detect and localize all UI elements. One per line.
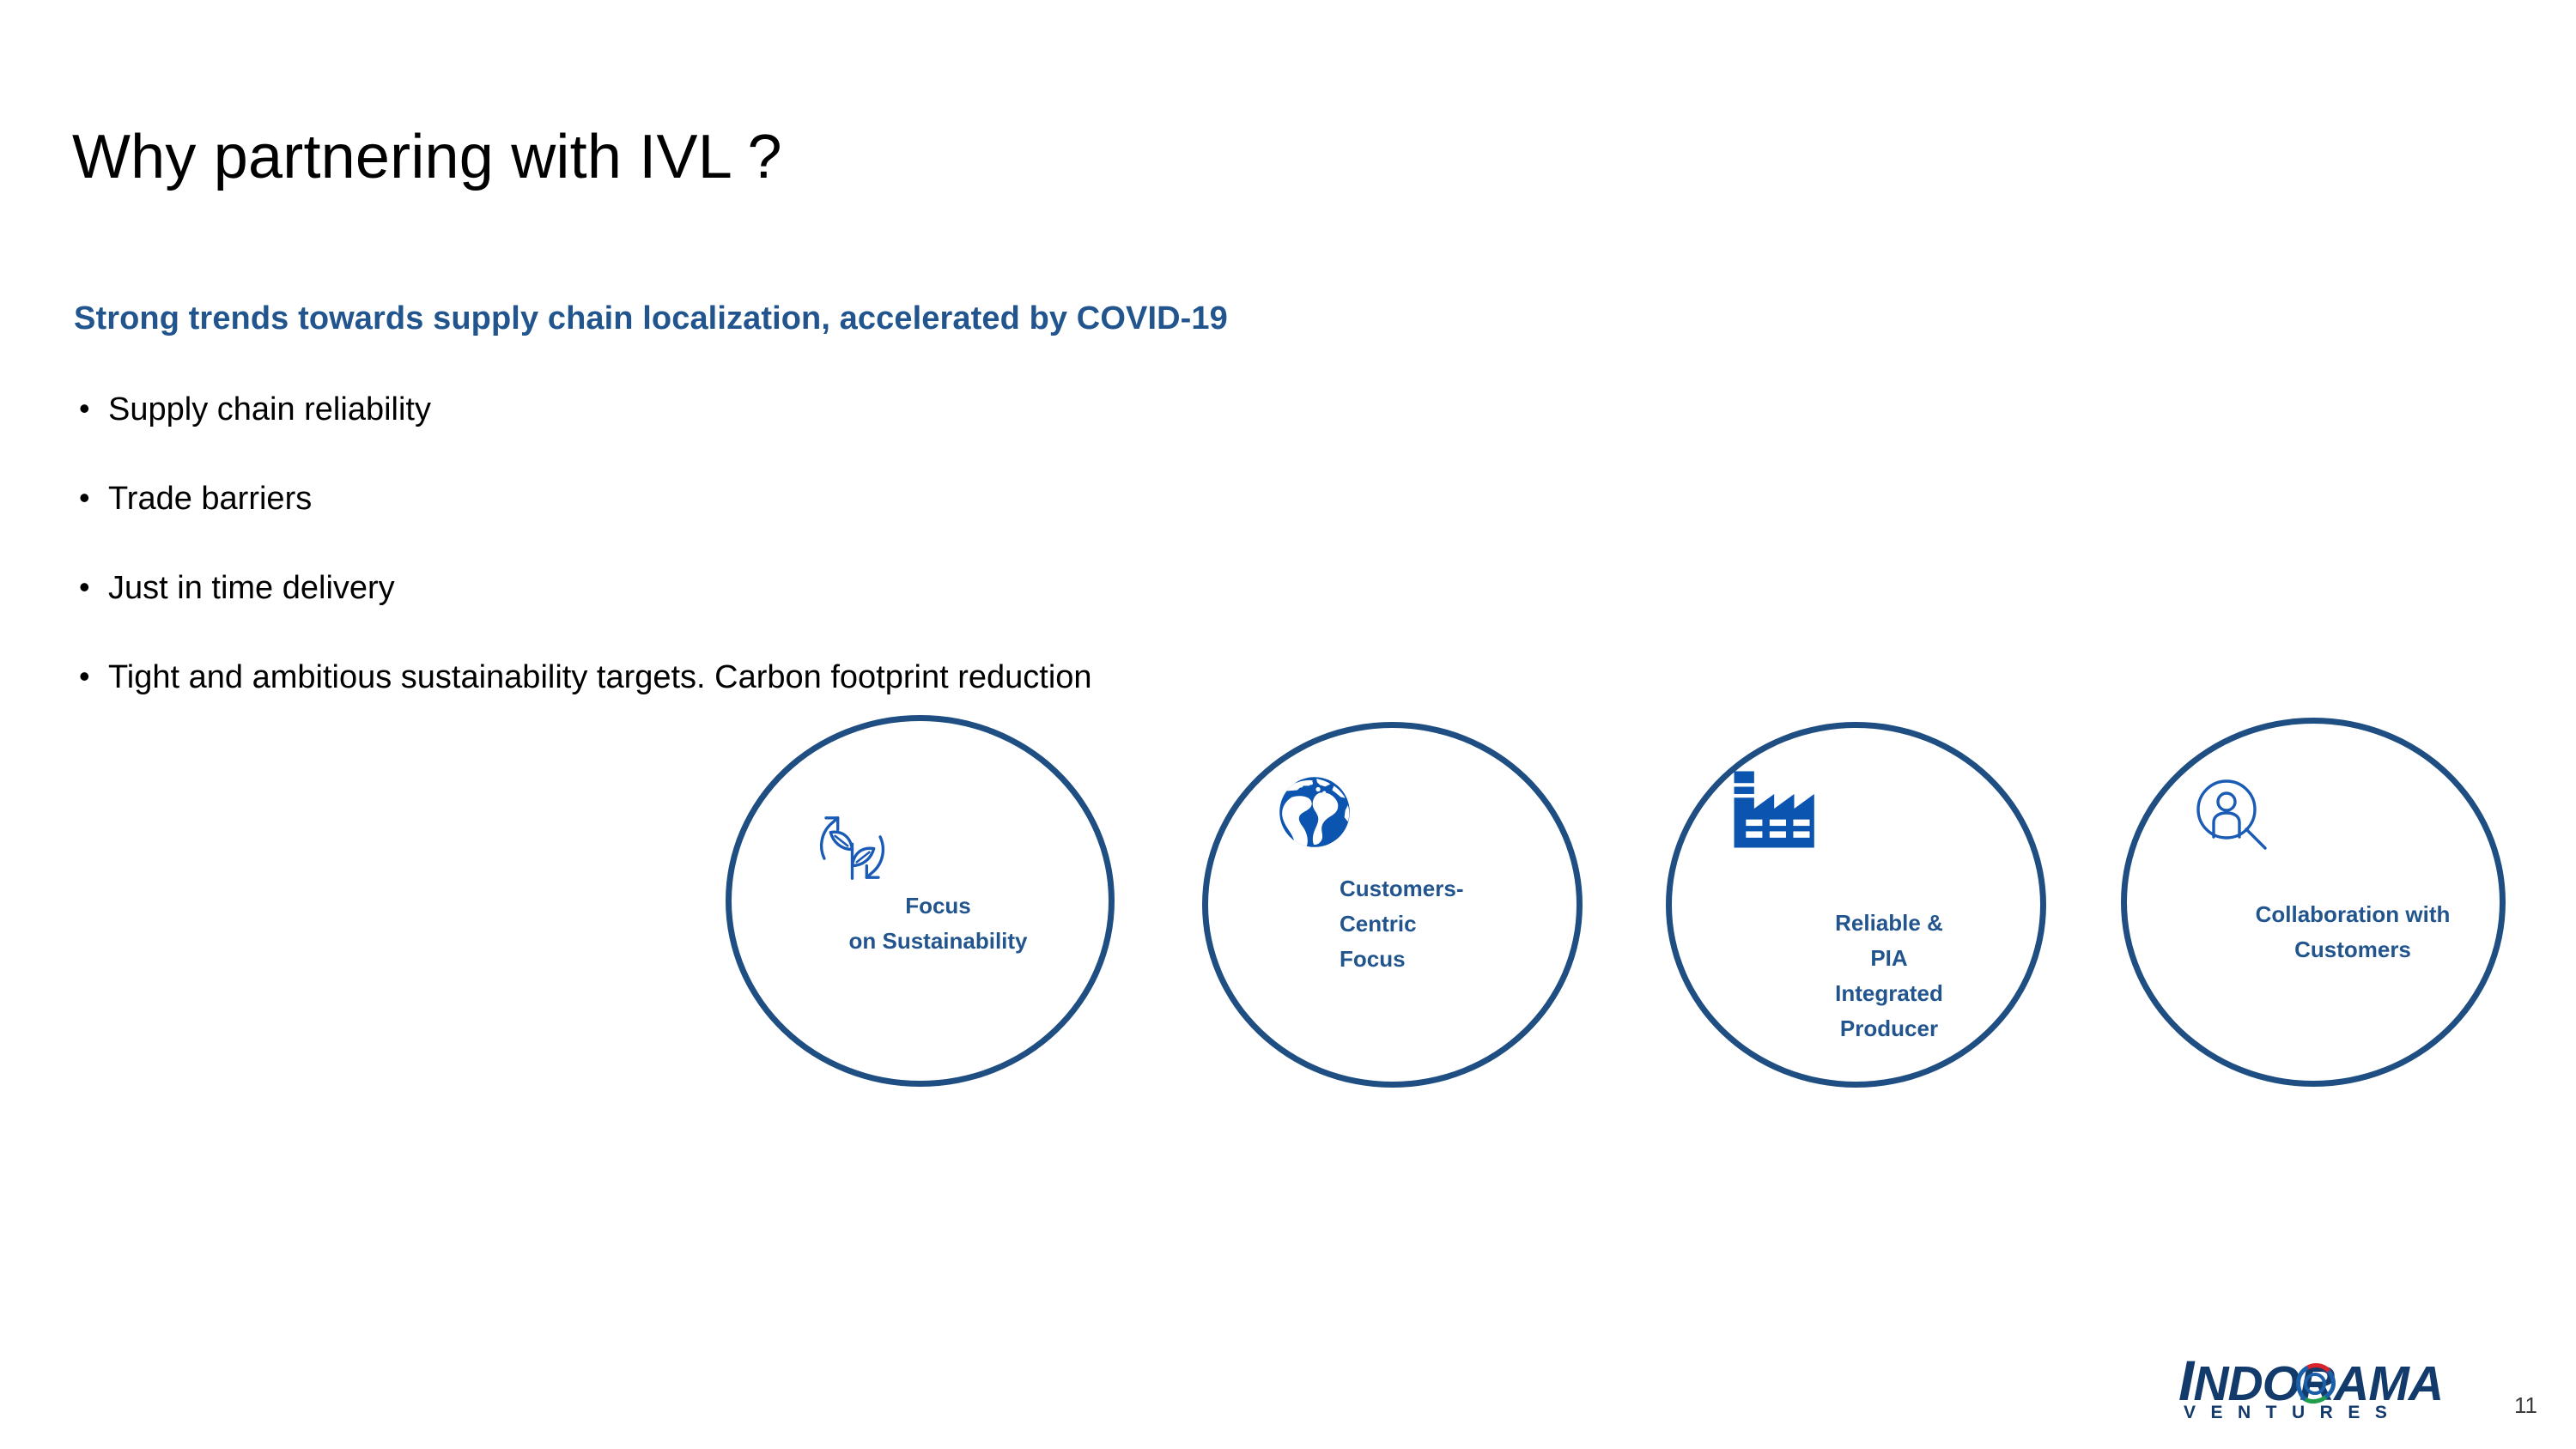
bullet-text: Supply chain reliability	[108, 385, 431, 434]
list-item: • Just in time delivery	[79, 563, 1333, 613]
circle-collaboration-with-customers[interactable]	[2121, 718, 2506, 1087]
bullet-text: Trade barriers	[108, 474, 312, 524]
circle-customers-centric-focus[interactable]	[1202, 722, 1583, 1088]
bullet-list: • Supply chain reliability • Trade barri…	[79, 385, 1333, 702]
bullet-marker-icon: •	[79, 385, 108, 433]
page-number: 11	[2514, 1392, 2537, 1419]
list-item: • Trade barriers	[79, 474, 1333, 524]
slide-canvas: Why partnering with IVL ? Strong trends …	[0, 0, 2576, 1449]
bullet-marker-icon: •	[79, 474, 108, 522]
list-item: • Tight and ambitious sustainability tar…	[79, 652, 1333, 702]
bullet-text: Tight and ambitious sustainability targe…	[108, 652, 1092, 702]
value-proposition-circles: Focus on Sustainability Customers- Centr…	[0, 0, 2576, 1449]
logo-tagline: VENTURES	[2184, 1403, 2402, 1423]
list-item: • Supply chain reliability	[79, 385, 1333, 434]
indorama-ventures-logo: INDORAMA VENTURES	[2178, 1355, 2505, 1428]
bullet-text: Just in time delivery	[108, 563, 395, 613]
subtitle-heading: Strong trends towards supply chain local…	[74, 300, 1228, 337]
circle-focus-on-sustainability[interactable]	[726, 715, 1115, 1087]
bullet-marker-icon: •	[79, 563, 108, 611]
logo-swirl-icon	[2292, 1361, 2338, 1407]
circle-reliable-pia-integrated-producer[interactable]	[1666, 722, 2046, 1088]
page-title: Why partnering with IVL ?	[72, 125, 782, 191]
bullet-marker-icon: •	[79, 652, 108, 700]
